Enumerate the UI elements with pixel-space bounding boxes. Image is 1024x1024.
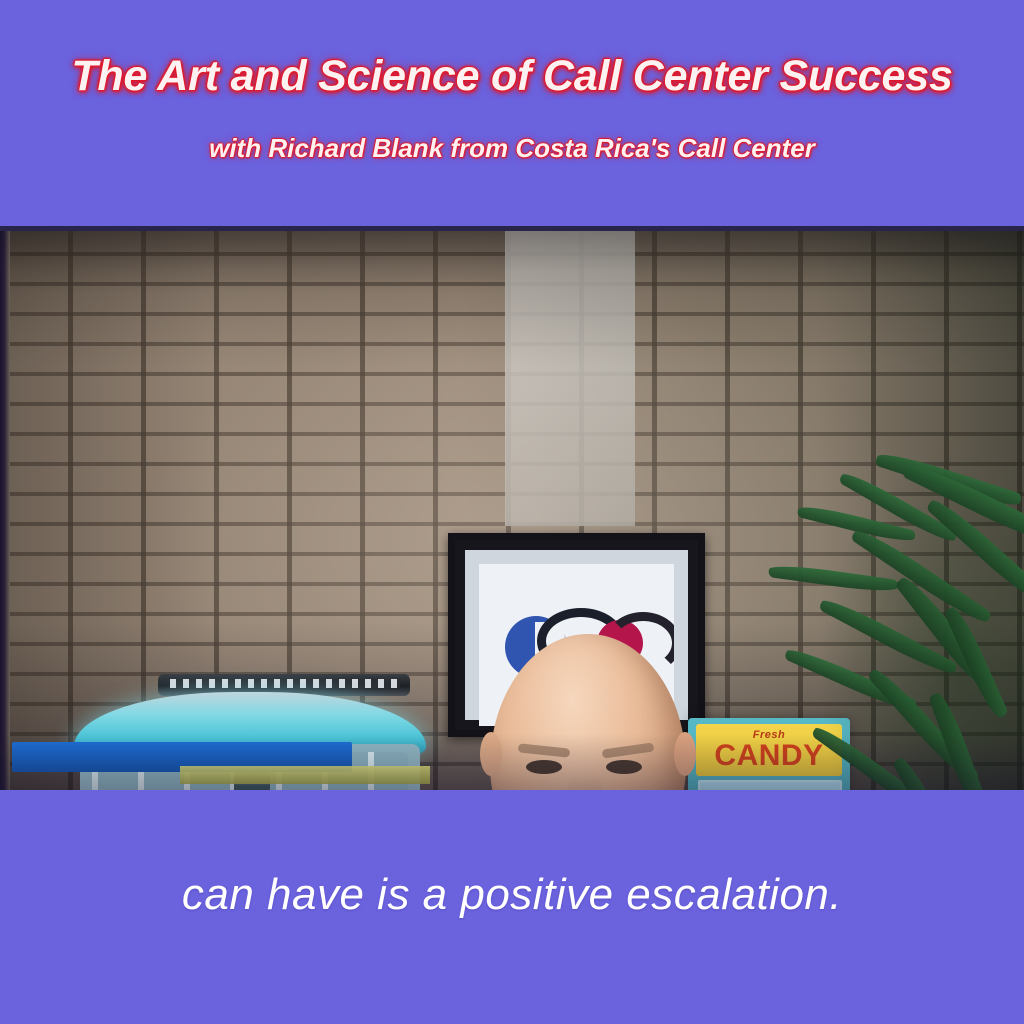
page-subtitle: with Richard Blank from Costa Rica's Cal… [0, 133, 1024, 164]
ear-left [480, 732, 502, 776]
speaker-figure [330, 626, 830, 790]
eye-right [606, 760, 642, 774]
head [490, 634, 686, 790]
video-top-border [0, 226, 1024, 231]
video-thumbnail-page: The Art and Science of Call Center Succe… [0, 0, 1024, 1024]
subtitle-caption: can have is a positive escalation. [0, 870, 1024, 920]
caption-band: can have is a positive escalation. [0, 790, 1024, 1024]
title-band: The Art and Science of Call Center Succe… [0, 0, 1024, 226]
video-player-frame[interactable]: Fresh CANDY [0, 226, 1024, 790]
eye-left [526, 760, 562, 774]
ear-right [674, 732, 696, 776]
page-title: The Art and Science of Call Center Succe… [0, 52, 1024, 101]
video-left-border [0, 226, 10, 790]
